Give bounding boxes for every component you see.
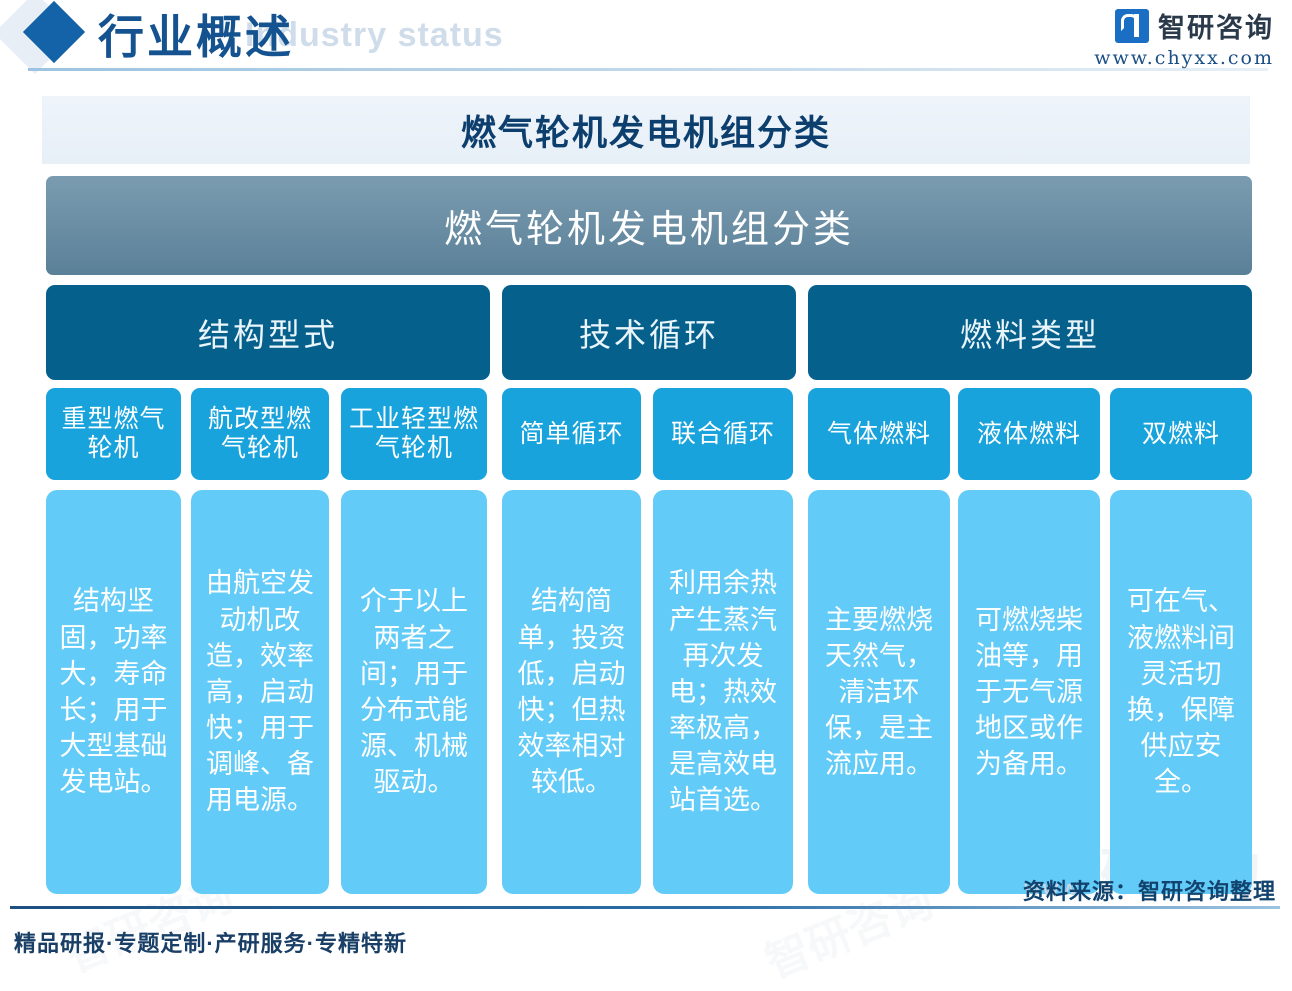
description-row: 结构坚固，功率大，寿命长；用于大型基础发电站。 由航空发动机改造，效率高，启动快… — [46, 490, 1252, 894]
category-label: 技术循环 — [579, 310, 719, 356]
description-text: 可在气、液燃料间灵活切换，保障供应安全。 — [1122, 583, 1240, 800]
category-label: 结构型式 — [198, 310, 338, 356]
subcategory-label: 液体燃料 — [977, 420, 1081, 449]
description-text: 由航空发动机改造，效率高，启动快；用于调峰、备用电源。 — [203, 565, 317, 818]
description-card: 主要燃烧天然气，清洁环保，是主流应用。 — [808, 490, 950, 894]
subcategory-label: 气体燃料 — [827, 420, 931, 449]
brand-url[interactable]: www.chyxx.com — [1094, 47, 1274, 69]
subcategory-label: 双燃料 — [1142, 420, 1220, 449]
footer-services-text: 精品研报·专题定制·产研服务·专精特新 — [14, 926, 407, 958]
category-fuel-type[interactable]: 燃料类型 — [808, 285, 1252, 380]
brand-block: 智研咨询 www.chyxx.com — [1094, 6, 1274, 69]
description-card: 由航空发动机改造，效率高，启动快；用于调峰、备用电源。 — [191, 490, 329, 894]
brand-logo-icon — [1115, 9, 1149, 43]
category-structure-type[interactable]: 结构型式 — [46, 285, 490, 380]
footer-divider — [10, 906, 1280, 909]
subcategory-row: 重型燃气轮机 航改型燃气轮机 工业轻型燃气轮机 简单循环 联合循环 气体燃料 液… — [46, 388, 1252, 480]
chart-title-dark-text: 燃气轮机发电机组分类 — [444, 198, 854, 253]
subcategory-item[interactable]: 气体燃料 — [808, 388, 950, 480]
description-text: 结构坚固，功率大，寿命长；用于大型基础发电站。 — [58, 583, 169, 800]
chart-title-light-text: 燃气轮机发电机组分类 — [461, 105, 831, 156]
category-row: 结构型式 技术循环 燃料类型 — [46, 285, 1252, 380]
page-title: 行业概述 — [98, 1, 294, 67]
header-divider — [28, 68, 1268, 71]
subcategory-item[interactable]: 简单循环 — [502, 388, 641, 480]
subcategory-item[interactable]: 航改型燃气轮机 — [191, 388, 329, 480]
subcategory-item[interactable]: 双燃料 — [1110, 388, 1252, 480]
category-technology-cycle[interactable]: 技术循环 — [502, 285, 796, 380]
description-card: 结构坚固，功率大，寿命长；用于大型基础发电站。 — [46, 490, 181, 894]
description-text: 可燃烧柴油等，用于无气源地区或作为备用。 — [970, 602, 1088, 783]
description-text: 利用余热产生蒸汽再次发电；热效率极高，是高效电站首选。 — [665, 565, 781, 818]
subcategory-label: 重型燃气轮机 — [52, 405, 175, 463]
description-text: 主要燃烧天然气，清洁环保，是主流应用。 — [820, 602, 938, 783]
subcategory-item[interactable]: 联合循环 — [653, 388, 793, 480]
category-label: 燃料类型 — [960, 310, 1100, 356]
diagram-content: 燃气轮机发电机组分类 燃气轮机发电机组分类 结构型式 技术循环 燃料类型 重型燃… — [0, 84, 1292, 894]
subcategory-label: 工业轻型燃气轮机 — [347, 405, 481, 463]
chart-title-dark: 燃气轮机发电机组分类 — [46, 176, 1252, 275]
description-card: 可在气、液燃料间灵活切换，保障供应安全。 — [1110, 490, 1252, 894]
source-note: 资料来源：智研咨询整理 — [1023, 874, 1276, 906]
description-card: 利用余热产生蒸汽再次发电；热效率极高，是高效电站首选。 — [653, 490, 793, 894]
description-card: 结构简单，投资低，启动快；但热效率相对较低。 — [502, 490, 641, 894]
description-text: 介于以上两者之间；用于分布式能源、机械驱动。 — [353, 583, 475, 800]
subcategory-item[interactable]: 工业轻型燃气轮机 — [341, 388, 487, 480]
page-footer: www 资料来源：智研咨询整理 精品研报·专题定制·产研服务·专精特新 — [0, 894, 1292, 978]
chart-title-light: 燃气轮机发电机组分类 — [42, 96, 1250, 164]
description-text: 结构简单，投资低，启动快；但热效率相对较低。 — [514, 583, 629, 800]
page-header: Industry status 行业概述 智研咨询 www.chyxx.com — [0, 0, 1292, 82]
brand-name: 智研咨询 — [1158, 6, 1274, 45]
subcategory-item[interactable]: 重型燃气轮机 — [46, 388, 181, 480]
description-card: 可燃烧柴油等，用于无气源地区或作为备用。 — [958, 490, 1100, 894]
subcategory-label: 联合循环 — [671, 420, 775, 449]
description-card: 介于以上两者之间；用于分布式能源、机械驱动。 — [341, 490, 487, 894]
subcategory-label: 航改型燃气轮机 — [197, 405, 323, 463]
subcategory-label: 简单循环 — [519, 420, 623, 449]
subcategory-item[interactable]: 液体燃料 — [958, 388, 1100, 480]
